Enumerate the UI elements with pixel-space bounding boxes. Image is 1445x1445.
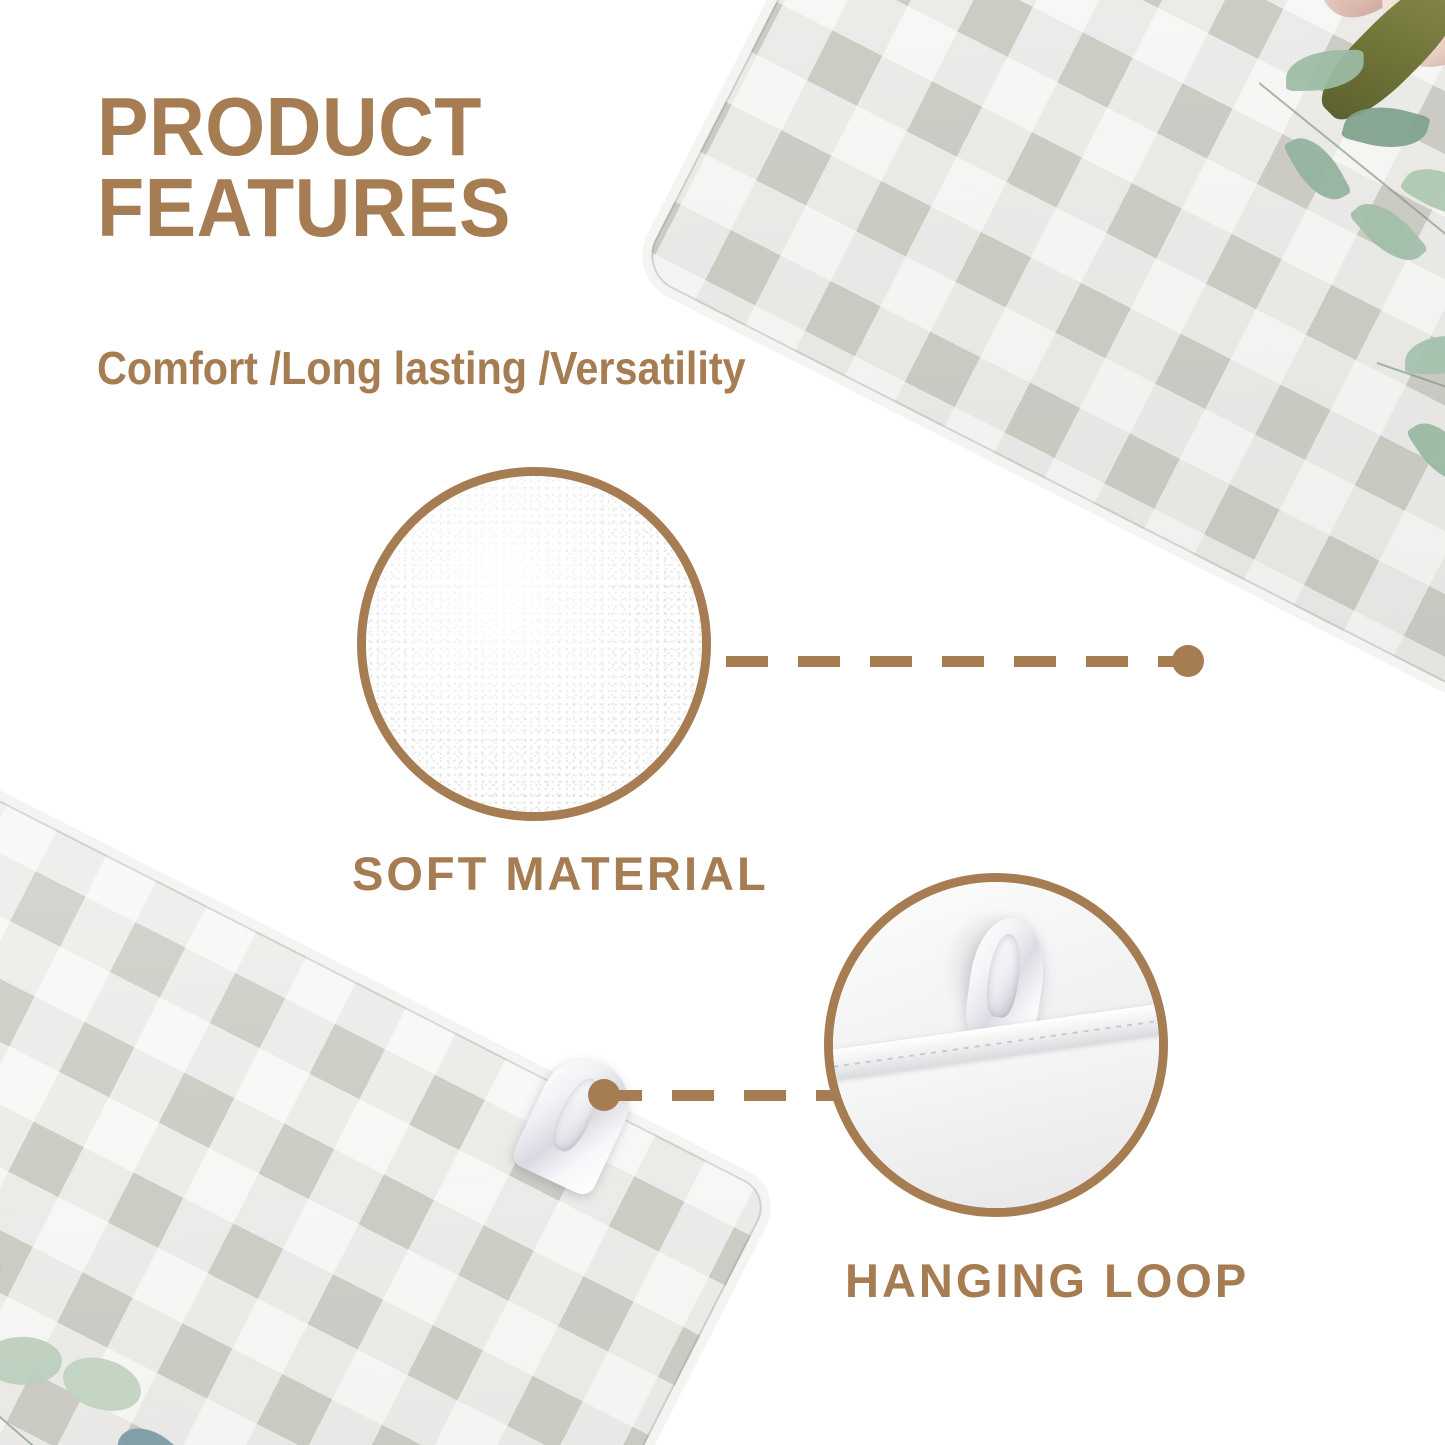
mat-surface [627,0,1445,766]
hanging-loop-closeup-image [833,882,1159,1208]
feature-label-soft-material: SOFT MATERIAL [352,846,769,901]
connector-endpoint-hanging-loop [588,1079,620,1111]
callout-hanging-loop [824,873,1168,1217]
texture-highlight [366,476,702,812]
infographic-canvas: PRODUCT FEATURES Comfort /Long lasting /… [0,0,1445,1445]
feature-label-hanging-loop: HANGING LOOP [845,1253,1249,1308]
callout-soft-material [357,467,711,821]
connector-line-soft-material [726,656,1186,667]
page-title: PRODUCT FEATURES [97,86,511,249]
soft-material-texture-image [366,476,702,812]
connector-endpoint-soft-material [1172,645,1204,677]
page-subtitle: Comfort /Long lasting /Versatility [97,345,746,391]
connector-line-hanging-loop [600,1090,840,1101]
bath-mat-top-right [627,0,1445,766]
